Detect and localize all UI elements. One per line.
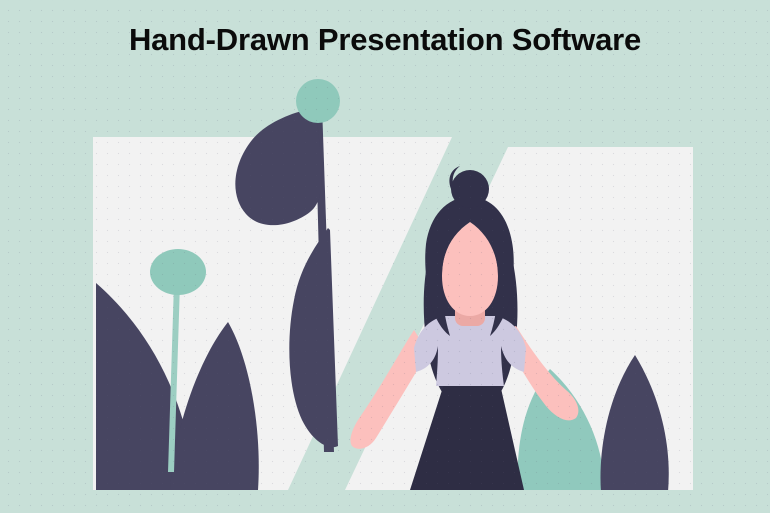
mint-circle-bud xyxy=(296,79,340,123)
hair-bun xyxy=(451,170,489,208)
bottom-mint-strip xyxy=(0,490,770,513)
presentation-slide: Hand-Drawn Presentation Software xyxy=(0,0,770,513)
flower-head-ellipse xyxy=(150,249,206,295)
illustration-canvas xyxy=(0,0,770,513)
page-title: Hand-Drawn Presentation Software xyxy=(0,22,770,58)
